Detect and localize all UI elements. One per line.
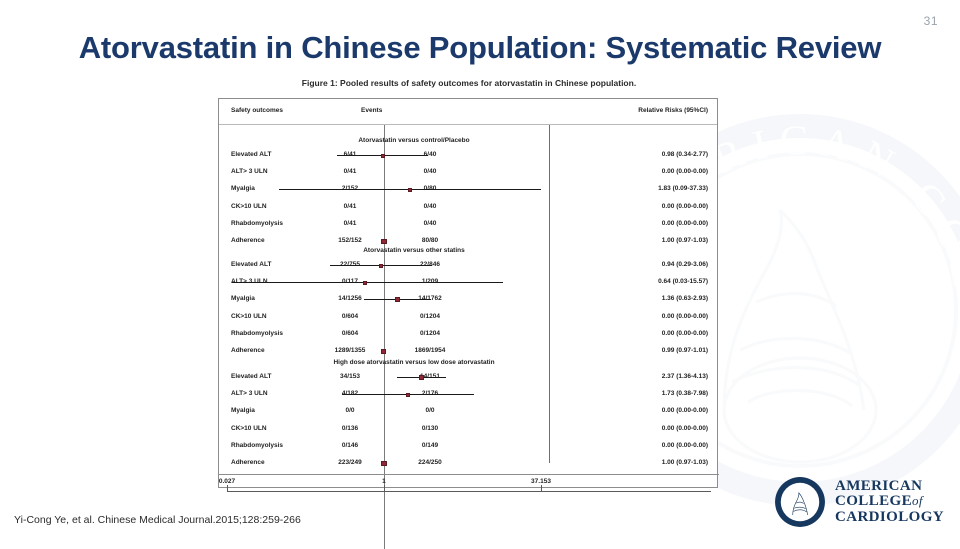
- point-estimate-marker: [363, 281, 367, 285]
- outcome-label: Adherence: [231, 459, 265, 466]
- events-treatment: 152/152: [314, 237, 386, 244]
- relative-risk-value: 0.00 (0.00-0.00): [662, 425, 708, 432]
- point-estimate-marker: [381, 349, 387, 355]
- citation: Yi-Cong Ye, et al. Chinese Medical Journ…: [14, 514, 301, 526]
- events-comparator: 0/0: [394, 407, 466, 414]
- point-estimate-marker: [379, 264, 383, 268]
- axis-tick-label: 37.153: [531, 478, 551, 485]
- acc-wordmark-line3: CARDIOLOGY: [835, 510, 944, 526]
- group-title: High dose atorvastatin versus low dose a…: [299, 359, 529, 366]
- events-treatment: 0/604: [314, 313, 386, 320]
- group-title: Atorvastatin versus control/Placebo: [299, 137, 529, 144]
- outcome-label: CK>10 ULN: [231, 313, 267, 320]
- relative-risk-value: 0.94 (0.29-3.06): [662, 261, 708, 268]
- outcome-label: Elevated ALT: [231, 261, 271, 268]
- events-treatment: 0/0: [314, 407, 386, 414]
- events-comparator: 0/1204: [394, 330, 466, 337]
- point-estimate-marker: [381, 154, 385, 158]
- relative-risk-value: 0.99 (0.97-1.01): [662, 347, 708, 354]
- outcome-label: Rhabdomyolysis: [231, 442, 283, 449]
- figure-panel: Safety outcomes Events Relative Risks (9…: [218, 98, 718, 488]
- relative-risk-value: 0.00 (0.00-0.00): [662, 168, 708, 175]
- acc-wordmark-of: of: [912, 493, 923, 508]
- events-comparator: 0/130: [394, 425, 466, 432]
- figure-header-row: Safety outcomes Events Relative Risks (9…: [219, 99, 717, 125]
- events-treatment: 0/41: [314, 220, 386, 227]
- figure-caption: Figure 1: Pooled results of safety outco…: [218, 78, 720, 88]
- group-title: Atorvastatin versus other statins: [299, 247, 529, 254]
- point-estimate-marker: [381, 461, 387, 467]
- outcome-label: ALT> 3 ULN: [231, 390, 268, 397]
- events-treatment: 0/41: [314, 203, 386, 210]
- column-header-safety-outcomes: Safety outcomes: [231, 107, 283, 114]
- slide-number: 31: [924, 14, 938, 28]
- events-treatment: 34/153: [314, 373, 386, 380]
- events-comparator: 1869/1954: [394, 347, 466, 354]
- axis-separator-line: [219, 474, 719, 475]
- axis-tick-label: 0.027: [219, 478, 235, 485]
- outcome-label: CK>10 ULN: [231, 203, 267, 210]
- outcome-label: CK>10 ULN: [231, 425, 267, 432]
- outcome-label: Adherence: [231, 347, 265, 354]
- relative-risk-value: 1.83 (0.09-37.33): [658, 185, 708, 192]
- events-treatment: 0/136: [314, 425, 386, 432]
- outcome-label: ALT> 3 ULN: [231, 168, 268, 175]
- events-comparator: 0/1204: [394, 313, 466, 320]
- axis-tick: [227, 485, 228, 491]
- panel-divider: [549, 125, 550, 463]
- acc-wordmark: AMERICAN COLLEGEof CARDIOLOGY: [835, 479, 944, 526]
- relative-risk-value: 2.37 (1.36-4.13): [662, 373, 708, 380]
- events-comparator: 0/40: [394, 168, 466, 175]
- confidence-interval-line: [232, 282, 504, 283]
- outcome-label: Myalgia: [231, 185, 255, 192]
- relative-risk-value: 0.00 (0.00-0.00): [662, 220, 708, 227]
- events-treatment: 223/249: [314, 459, 386, 466]
- relative-risk-value: 1.36 (0.63-2.93): [662, 295, 708, 302]
- page-title: Atorvastatin in Chinese Population: Syst…: [0, 30, 960, 66]
- point-estimate-marker: [381, 239, 387, 245]
- outcome-label: Elevated ALT: [231, 151, 271, 158]
- outcome-label: Myalgia: [231, 407, 255, 414]
- point-estimate-marker: [395, 297, 400, 302]
- events-comparator: 0/149: [394, 442, 466, 449]
- point-estimate-marker: [419, 375, 424, 380]
- events-treatment: 0/604: [314, 330, 386, 337]
- relative-risk-value: 1.00 (0.97-1.03): [662, 237, 708, 244]
- acc-wordmark-line1: AMERICAN: [835, 479, 944, 495]
- relative-risk-value: 0.00 (0.00-0.00): [662, 407, 708, 414]
- relative-risk-value: 0.00 (0.00-0.00): [662, 313, 708, 320]
- events-comparator: 0/40: [394, 220, 466, 227]
- outcome-label: Adherence: [231, 237, 265, 244]
- relative-risk-value: 0.98 (0.34-2.77): [662, 151, 708, 158]
- outcome-label: Myalgia: [231, 295, 255, 302]
- relative-risk-value: 0.00 (0.00-0.00): [662, 442, 708, 449]
- events-treatment: 0/146: [314, 442, 386, 449]
- events-comparator: 0/40: [394, 203, 466, 210]
- axis-tick: [541, 485, 542, 491]
- outcome-label: Rhabdomyolysis: [231, 220, 283, 227]
- relative-risk-value: 1.00 (0.97-1.03): [662, 459, 708, 466]
- events-treatment: 0/41: [314, 168, 386, 175]
- relative-risk-value: 0.00 (0.00-0.00): [662, 330, 708, 337]
- column-header-relative-risks: Relative Risks (95%CI): [638, 107, 708, 114]
- point-estimate-marker: [408, 188, 412, 192]
- acc-logo: AMERICAN COLLEGE OF CARDIOLOGY AMERICAN …: [774, 476, 944, 528]
- axis-line: [227, 491, 711, 492]
- relative-risk-value: 0.64 (0.03-15.57): [658, 278, 708, 285]
- acc-wordmark-line2: COLLEGEof: [835, 494, 944, 510]
- forest-plot-figure: Figure 1: Pooled results of safety outco…: [218, 78, 720, 490]
- outcome-label: Elevated ALT: [231, 373, 271, 380]
- point-estimate-marker: [406, 393, 410, 397]
- events-comparator: 80/80: [394, 237, 466, 244]
- acc-seal-icon: AMERICAN COLLEGE OF CARDIOLOGY: [774, 476, 826, 528]
- axis-tick: [384, 485, 385, 491]
- relative-risk-value: 1.73 (0.38-7.98): [662, 390, 708, 397]
- column-header-events: Events: [361, 107, 382, 114]
- events-comparator: 224/250: [394, 459, 466, 466]
- events-treatment: 1289/1355: [314, 347, 386, 354]
- acc-wordmark-college: COLLEGE: [835, 493, 912, 509]
- axis-tick-label: 1: [382, 478, 386, 485]
- relative-risk-value: 0.00 (0.00-0.00): [662, 203, 708, 210]
- outcome-label: Rhabdomyolysis: [231, 330, 283, 337]
